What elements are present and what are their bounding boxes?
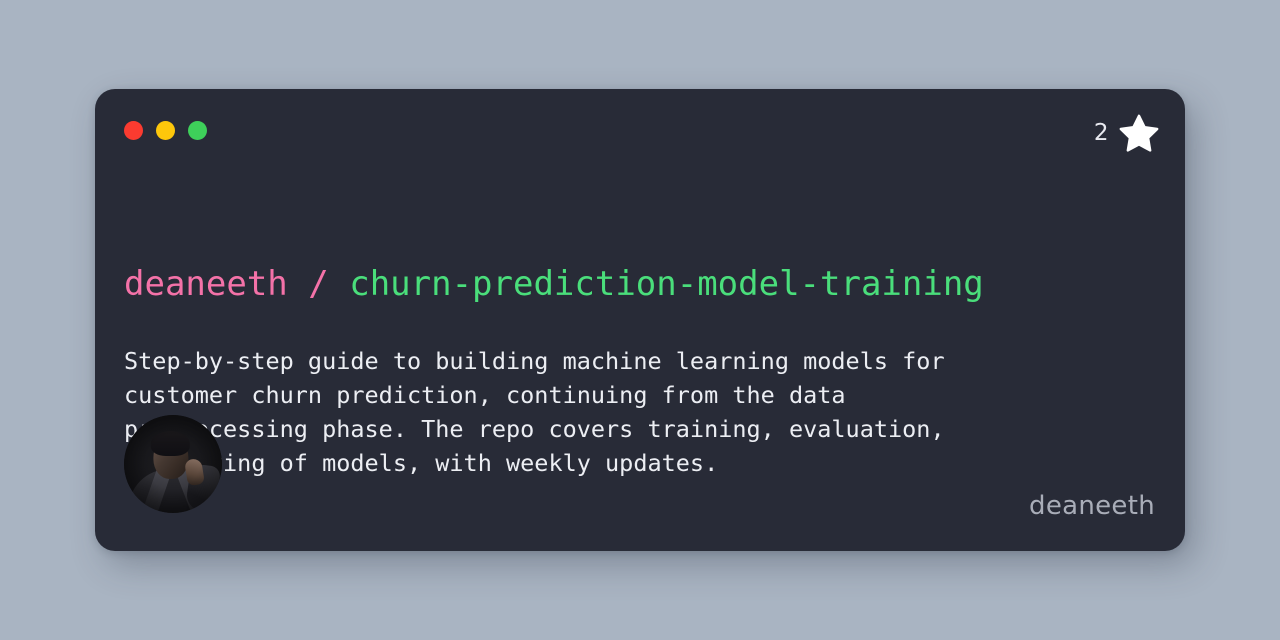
repository-social-card: 2 deaneeth / churn-prediction-model-trai… bbox=[95, 89, 1185, 551]
repository-title: deaneeth / churn-prediction-model-traini… bbox=[124, 267, 984, 301]
title-space-2 bbox=[329, 264, 349, 304]
avatar-hand bbox=[184, 458, 205, 486]
author-username: deaneeth bbox=[1029, 493, 1155, 519]
description-line-2: customer churn prediction, continuing fr… bbox=[124, 378, 1084, 412]
description-line-3: preprocessing phase. The repo covers tra… bbox=[124, 412, 1084, 446]
avatar-photo bbox=[124, 415, 222, 513]
star-count-label: 2 bbox=[1094, 122, 1109, 145]
description-line-4: and saving of models, with weekly update… bbox=[124, 446, 1084, 480]
star-icon bbox=[1119, 113, 1159, 153]
window-controls bbox=[124, 121, 207, 140]
title-separator: / bbox=[308, 264, 328, 304]
minimize-window-icon[interactable] bbox=[156, 121, 175, 140]
title-space bbox=[288, 264, 308, 304]
star-counter[interactable]: 2 bbox=[1094, 113, 1159, 153]
description-line-1: Step-by-step guide to building machine l… bbox=[124, 344, 1084, 378]
close-window-icon[interactable] bbox=[124, 121, 143, 140]
avatar-hair bbox=[151, 431, 190, 456]
avatar bbox=[124, 415, 222, 513]
repository-name[interactable]: churn-prediction-model-training bbox=[349, 264, 984, 304]
repository-description: Step-by-step guide to building machine l… bbox=[124, 344, 1084, 480]
maximize-window-icon[interactable] bbox=[188, 121, 207, 140]
repository-owner[interactable]: deaneeth bbox=[124, 264, 288, 304]
